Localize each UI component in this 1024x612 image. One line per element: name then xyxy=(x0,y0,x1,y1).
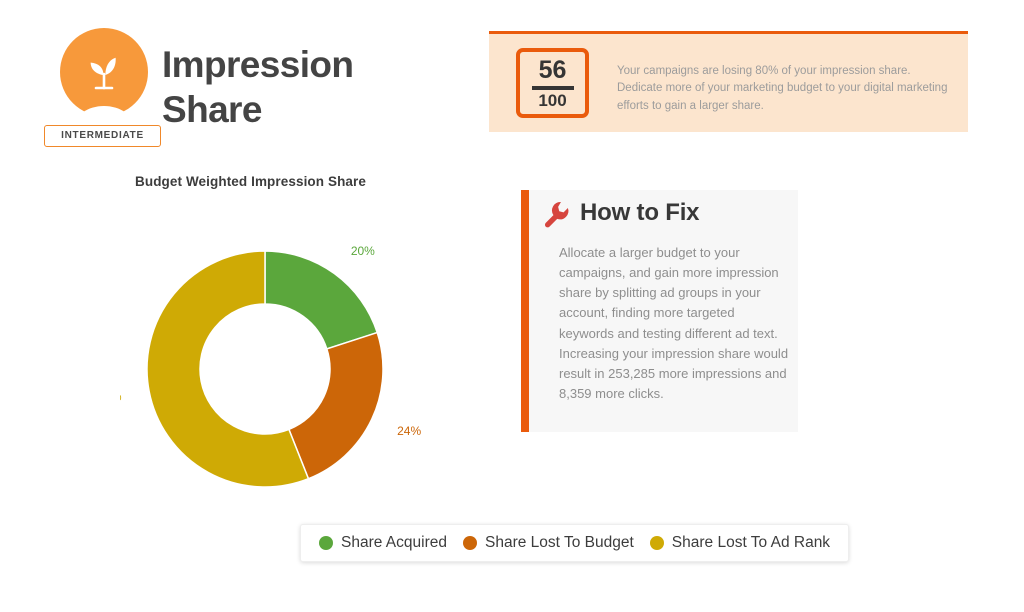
legend-label: Share Lost To Ad Rank xyxy=(672,534,830,552)
page-title: Impression Share xyxy=(162,42,462,132)
how-to-fix-heading: How to Fix xyxy=(580,199,699,227)
legend-item[interactable]: Share Lost To Budget xyxy=(463,534,634,552)
donut-slice xyxy=(289,333,383,479)
donut-slice-label: 56% xyxy=(120,389,122,403)
score-total: 100 xyxy=(538,92,566,109)
legend-color-dot xyxy=(319,536,333,550)
panel-accent-bar xyxy=(521,190,529,432)
legend-color-dot xyxy=(463,536,477,550)
score-banner: 56 100 Your campaigns are losing 80% of … xyxy=(489,31,968,132)
how-to-fix-body: Allocate a larger budget to your campaig… xyxy=(559,243,791,404)
chart-title: Budget Weighted Impression Share xyxy=(135,174,366,189)
wrench-icon xyxy=(542,198,572,230)
donut-slice xyxy=(265,251,377,349)
score-fraction-divider xyxy=(532,86,574,90)
donut-slice-label: 24% xyxy=(397,424,421,438)
legend-item[interactable]: Share Acquired xyxy=(319,534,447,552)
legend-label: Share Lost To Budget xyxy=(485,534,634,552)
donut-slice-group xyxy=(147,251,383,487)
logo-badge-group: INTERMEDIATE xyxy=(56,28,152,140)
legend-label: Share Acquired xyxy=(341,534,447,552)
level-badge: INTERMEDIATE xyxy=(44,125,161,147)
score-value: 56 xyxy=(539,58,567,83)
donut-slice-label: 20% xyxy=(351,244,375,258)
how-to-fix-panel: How to Fix Allocate a larger budget to y… xyxy=(521,190,798,432)
score-description: Your campaigns are losing 80% of your im… xyxy=(617,63,951,115)
legend-color-dot xyxy=(650,536,664,550)
score-box: 56 100 xyxy=(516,48,589,118)
page-header: INTERMEDIATE Impression Share xyxy=(56,28,476,138)
legend-item[interactable]: Share Lost To Ad Rank xyxy=(650,534,830,552)
level-badge-label: INTERMEDIATE xyxy=(61,131,144,141)
donut-chart: 20%24%56% xyxy=(120,236,430,511)
seedling-icon xyxy=(82,50,126,94)
chart-legend: Share AcquiredShare Lost To BudgetShare … xyxy=(300,524,849,562)
